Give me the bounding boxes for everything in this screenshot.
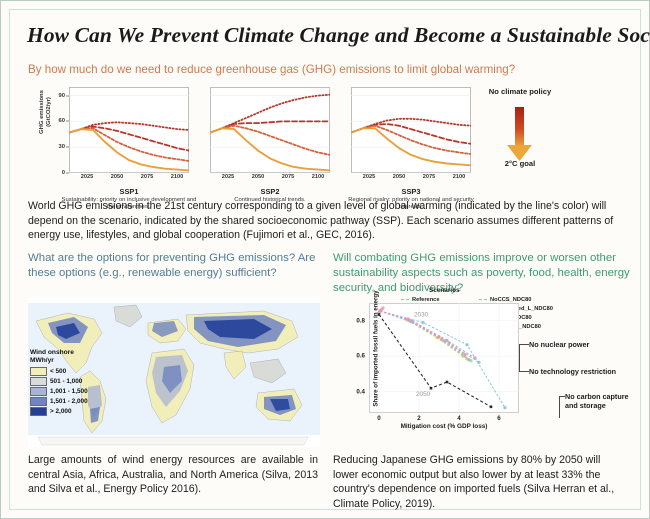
warming-level-legend: No climate policy 2°C goal: [487, 87, 583, 177]
section-question-emissions: By how much do we need to reduce greenho…: [28, 63, 628, 76]
scatter-y-ticks: 0.40.60.8: [333, 303, 369, 413]
scatter-plot-area: 20302050 Share of imported fossil fuels …: [369, 303, 519, 413]
map-legend-row: 1,001 - 1,500: [30, 387, 102, 396]
legend-line-icon: [401, 299, 409, 300]
arrow-label-bottom: 2°C goal: [487, 159, 553, 168]
mitigation-scatter-chart: Scenarios Reference Default_NDC80 Nuc_H_…: [333, 287, 633, 449]
wind-caption: Large amounts of wind energy resources a…: [28, 453, 318, 497]
map-legend-title: Wind onshore MWh/yr: [30, 349, 102, 366]
map-legend-row: 1,501 - 2,000: [30, 397, 102, 406]
legend-label: 501 - 1,000: [50, 378, 82, 385]
legend-swatch: [30, 407, 47, 416]
section-question-options: What are the options for preventing GHG …: [28, 251, 318, 281]
infographic-poster: How Can We Prevent Climate Change and Be…: [0, 0, 650, 519]
legend-label: NoCCS_NDC80: [490, 297, 531, 303]
scatter-x-axis-label: Mitigation cost (% GDP loss): [369, 423, 519, 430]
svg-text:2030: 2030: [414, 311, 429, 318]
legend-swatch: [30, 377, 47, 386]
ssp-y-axis-label: GHG emissions(GtCO2/yr): [39, 73, 53, 151]
ssp2-chart: 2025205020752100SSP2Continued historical…: [210, 87, 330, 173]
wind-resource-map: Wind onshore MWh/yr < 500 501 - 1,000 1,…: [28, 297, 320, 447]
ssp-y-axis: GHG emissions(GtCO2/yr) 0306090: [29, 87, 69, 177]
callout-no-carbon-capture: No carbon captureand storage: [565, 392, 631, 410]
legend-label: < 500: [50, 368, 66, 375]
legend-label: 1,001 - 1,500: [50, 388, 88, 395]
map-legend-row: 501 - 1,000: [30, 377, 102, 386]
ssp1-chart: 2025205020752100SSP1Sustainability: prio…: [69, 87, 189, 173]
scatter-series-graphic: 20302050: [369, 303, 519, 413]
map-legend: Wind onshore MWh/yr < 500 501 - 1,000 1,…: [30, 349, 102, 416]
map-legend-bins: < 500 501 - 1,000 1,001 - 1,500 1,501 - …: [30, 367, 102, 416]
map-legend-row: > 2,000: [30, 407, 102, 416]
gradient-arrow-icon: [504, 107, 536, 163]
legend-label: Reference: [412, 297, 440, 303]
scatter-legend-title: Scenarios: [429, 287, 460, 294]
legend-line-icon: [479, 299, 487, 300]
map-legend-row: < 500: [30, 367, 102, 376]
ssp-chart-row: 2025205020752100SSP1Sustainability: prio…: [69, 87, 469, 195]
ssp3-chart: 2025205020752100SSP3Regional rivalry: pr…: [351, 87, 471, 173]
legend-label: > 2,000: [50, 408, 72, 415]
legend-swatch: [30, 367, 47, 376]
legend-swatch: [30, 397, 47, 406]
svg-text:2050: 2050: [416, 391, 431, 398]
scatter-y-axis-label: Share of imported fossil fuels in energy: [373, 289, 380, 409]
page-title: How Can We Prevent Climate Change and Be…: [27, 23, 627, 48]
legend-swatch: [30, 387, 47, 396]
ssp-caption: World GHG emissions in the 21st century …: [28, 199, 626, 243]
japan-caption: Reducing Japanese GHG emissions by 80% b…: [333, 453, 625, 511]
arrow-label-top: No climate policy: [487, 87, 553, 97]
callout-no-technology-restriction: No technology restriction: [529, 367, 616, 376]
legend-label: 1,501 - 2,000: [50, 398, 88, 405]
callout-no-nuclear-power: No nuclear power: [529, 340, 589, 349]
